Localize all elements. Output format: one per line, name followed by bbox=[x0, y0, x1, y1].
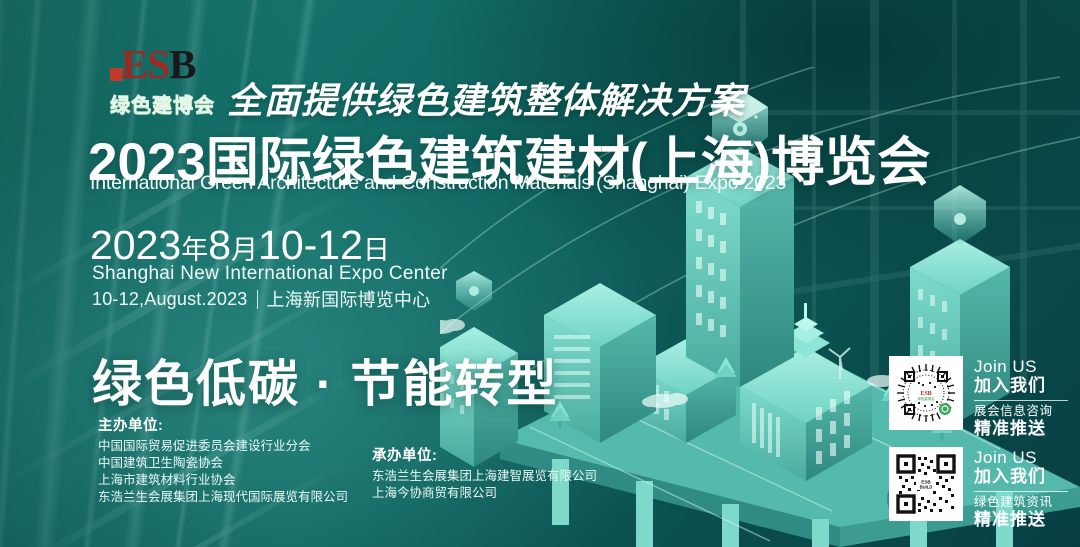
qr-push-2: 精准推送 bbox=[974, 510, 1068, 530]
venue-english: Shanghai New International Expo Center bbox=[92, 263, 448, 285]
top-slogan: 全面提供绿色建筑整体解决方案 bbox=[227, 72, 745, 124]
host-item: 上海市建筑材料行业协会 bbox=[98, 472, 348, 489]
logo-letter-s: S bbox=[147, 41, 169, 87]
logo-letter-b: B bbox=[169, 41, 195, 87]
venue-chinese: 上海新国际博览中心 bbox=[267, 286, 431, 312]
date-year-unit: 年 bbox=[181, 235, 208, 265]
date-venue-row: 10-12,August.2023 上海新国际博览中心 bbox=[92, 286, 430, 312]
qr-code-esb-build-icon[interactable]: ESB BUILD bbox=[889, 447, 963, 521]
logo-letter-e: E bbox=[121, 41, 147, 87]
co-host-organizers: 承办单位: 东浩兰生会展集团上海建智展览有限公司 上海今协商贸有限公司 bbox=[372, 448, 597, 502]
host-heading: 主办单位: bbox=[98, 418, 348, 435]
logo-chinese-name: 绿色建博会 bbox=[110, 89, 226, 118]
join-us-chinese-1: 加入我们 bbox=[974, 376, 1068, 396]
co-host-heading: 承办单位: bbox=[372, 448, 597, 465]
date-day-unit: 日 bbox=[363, 235, 390, 265]
date-month-unit: 月 bbox=[231, 235, 258, 265]
qr-code-wechat-official-icon[interactable]: ESB 绿色建博会 bbox=[889, 356, 963, 430]
co-host-item: 东浩兰生会展集团上海建智展览有限公司 bbox=[372, 468, 597, 485]
event-date-chinese: 2023年8月10-12日 bbox=[90, 222, 390, 269]
main-slogan: 绿色低碳 · 节能转型 bbox=[92, 344, 558, 416]
qr-subtitle-2: 绿色建筑资讯 bbox=[974, 495, 1068, 510]
qr-push-1: 精准推送 bbox=[974, 419, 1068, 439]
date-month: 8 bbox=[208, 222, 231, 268]
date-year: 2023 bbox=[90, 222, 181, 268]
svg-text:BUILD: BUILD bbox=[920, 485, 933, 490]
qr-text-1: Join US 加入我们 展会信息咨询 精准推送 bbox=[974, 356, 1068, 439]
expo-banner: ESB 绿色建博会 全面提供绿色建筑整体解决方案 2023国际绿色建筑建材(上海… bbox=[0, 0, 1080, 547]
qr-divider-1 bbox=[974, 400, 1068, 401]
svg-text:绿色建博会: 绿色建博会 bbox=[918, 396, 936, 401]
join-us-label-2: Join US bbox=[974, 448, 1068, 467]
esb-letters: ESB bbox=[121, 44, 196, 85]
join-us-chinese-2: 加入我们 bbox=[974, 467, 1068, 487]
qr-block-green-building-news[interactable]: ESB BUILD Join US 加入我们 绿色建筑资讯 精准推送 bbox=[889, 447, 1068, 530]
qr-text-2: Join US 加入我们 绿色建筑资讯 精准推送 bbox=[974, 447, 1068, 530]
page-title-english: International Green Architecture and Con… bbox=[90, 172, 786, 195]
esb-wordmark: ESB bbox=[110, 48, 226, 88]
co-host-item: 上海今协商贸有限公司 bbox=[372, 485, 597, 502]
host-organizers: 主办单位: 中国国际贸易促进委员会建设行业分会 中国建筑卫生陶瓷协会 上海市建筑… bbox=[98, 418, 348, 506]
join-us-label-1: Join US bbox=[974, 357, 1068, 376]
host-item: 中国建筑卫生陶瓷协会 bbox=[98, 455, 348, 472]
date-days: 10-12 bbox=[258, 222, 363, 268]
event-date-english: 10-12,August.2023 bbox=[92, 289, 248, 310]
qr-divider-2 bbox=[974, 491, 1068, 492]
qr-block-exhibition-info[interactable]: ESB 绿色建博会 Join US 加入我们 展会信息咨询 精准推送 bbox=[889, 356, 1068, 439]
host-item: 中国国际贸易促进委员会建设行业分会 bbox=[98, 438, 348, 455]
host-item: 东浩兰生会展集团上海现代国际展览有限公司 bbox=[98, 489, 348, 506]
divider bbox=[257, 290, 258, 309]
esb-logo[interactable]: ESB 绿色建博会 bbox=[110, 48, 226, 118]
qr-subtitle-1: 展会信息咨询 bbox=[974, 404, 1068, 419]
